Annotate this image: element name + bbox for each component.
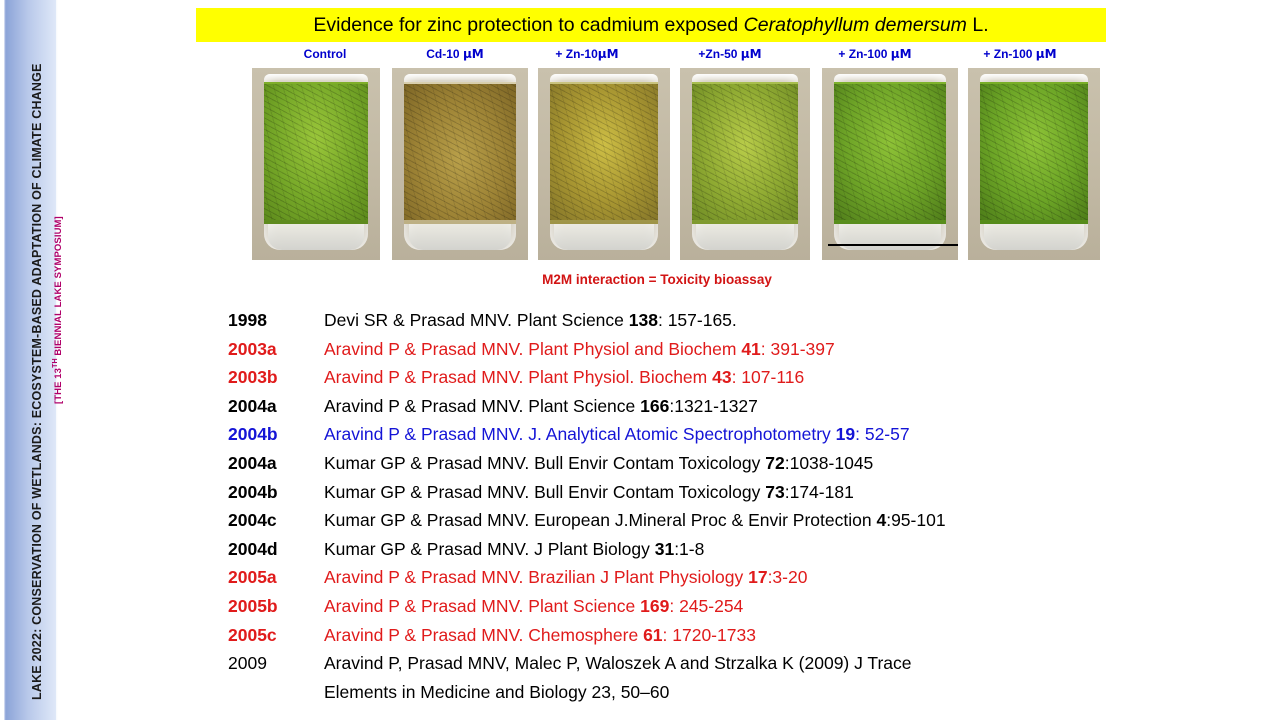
reference-row: 2009Aravind P, Prasad MNV, Malec P, Walo…	[228, 649, 1268, 678]
reference-citation: Kumar GP & Prasad MNV. European J.Minera…	[324, 510, 946, 530]
reference-text: :3-20	[768, 567, 808, 587]
reference-year: 2003b	[228, 363, 324, 392]
reference-citation: Aravind P & Prasad MNV. Chemosphere 61: …	[324, 625, 756, 645]
reference-volume: 138	[629, 310, 658, 330]
reference-row: 2003aAravind P & Prasad MNV. Plant Physi…	[228, 335, 1268, 364]
title-part-1: Evidence for zinc protection to cadmium …	[313, 14, 743, 36]
reference-text: : 107-116	[732, 367, 805, 387]
reference-year: 2004a	[228, 449, 324, 478]
reference-citation: Aravind P & Prasad MNV. Plant Physiol. B…	[324, 367, 804, 387]
reference-text: :1321-1327	[669, 396, 758, 416]
reference-citation: Kumar GP & Prasad MNV. Bull Envir Contam…	[324, 453, 873, 473]
reference-year: 2004a	[228, 392, 324, 421]
treatment-label-zn100-a-unit: μM	[891, 47, 912, 61]
reference-volume: 72	[765, 453, 784, 473]
reference-volume: 61	[643, 625, 662, 645]
reference-row: 2004aKumar GP & Prasad MNV. Bull Envir C…	[228, 449, 1268, 478]
beaker-glass	[692, 74, 799, 250]
beaker-rim	[550, 74, 658, 80]
reference-row: 2004dKumar GP & Prasad MNV. J Plant Biol…	[228, 535, 1268, 564]
treatment-label-zn50-unit: μM	[741, 47, 762, 61]
treatment-label-zn50: +Zn-50 μM	[665, 47, 795, 61]
reference-text: :174-181	[785, 482, 854, 502]
reference-text: Aravind P & Prasad MNV. J. Analytical At…	[324, 424, 836, 444]
treatment-label-zn10: + Zn-10μM	[522, 47, 652, 61]
plant-mass	[404, 84, 516, 220]
reference-volume: 19	[836, 424, 855, 444]
beaker-photo-zn50	[680, 68, 810, 260]
beaker-rim	[404, 74, 516, 80]
reference-year: 2009	[228, 649, 324, 678]
reference-text: Aravind P & Prasad MNV. Plant Science	[324, 396, 640, 416]
reference-year: 2004c	[228, 506, 324, 535]
title-part-2: L.	[967, 14, 989, 36]
beaker-photo-zn100-b	[968, 68, 1100, 260]
reference-text: : 1720-1733	[663, 625, 756, 645]
reference-text: Aravind P & Prasad MNV. Plant Physiol. B…	[324, 367, 712, 387]
beaker-base	[409, 224, 512, 250]
beaker-photo-zn10	[538, 68, 670, 260]
reference-year: 2005a	[228, 563, 324, 592]
plant-mass	[550, 84, 658, 220]
reference-volume: 4	[876, 510, 886, 530]
beaker-photo-cd10	[392, 68, 528, 260]
reference-text: Kumar GP & Prasad MNV. J Plant Biology	[324, 539, 655, 559]
reference-row: 2003bAravind P & Prasad MNV. Plant Physi…	[228, 363, 1268, 392]
plant-texture	[980, 84, 1088, 220]
reference-continuation: Elements in Medicine and Biology 23, 50–…	[228, 678, 1268, 707]
reference-text: Aravind P & Prasad MNV. Plant Physiol an…	[324, 339, 741, 359]
beaker-rim	[980, 74, 1088, 80]
beaker-base	[554, 224, 654, 250]
reference-volume: 31	[655, 539, 674, 559]
left-sidebar: LAKE 2022: CONSERVATION OF WETLANDS: ECO…	[0, 0, 63, 720]
reference-citation: Devi SR & Prasad MNV. Plant Science 138:…	[324, 310, 737, 330]
reference-text: Aravind P & Prasad MNV. Chemosphere	[324, 625, 643, 645]
reference-row: 1998Devi SR & Prasad MNV. Plant Science …	[228, 306, 1268, 335]
reference-year: 2005c	[228, 621, 324, 650]
reference-text: Kumar GP & Prasad MNV. European J.Minera…	[324, 510, 876, 530]
reference-citation: Kumar GP & Prasad MNV. Bull Envir Contam…	[324, 482, 854, 502]
plant-mass	[692, 84, 799, 220]
reference-text: : 157-165.	[658, 310, 737, 330]
treatment-label-control: Control	[260, 47, 390, 61]
reference-text: :1038-1045	[785, 453, 874, 473]
treatment-label-zn100-b: + Zn-100 μM	[950, 47, 1090, 61]
page-title: Evidence for zinc protection to cadmium …	[313, 14, 988, 37]
title-species-name: Ceratophyllum demersum	[744, 14, 967, 36]
treatment-label-zn10-text: + Zn-10	[555, 47, 597, 61]
reference-volume: 169	[640, 596, 669, 616]
reference-row: 2004bKumar GP & Prasad MNV. Bull Envir C…	[228, 478, 1268, 507]
reference-volume: 166	[640, 396, 669, 416]
beaker-photo-zn100-a	[822, 68, 958, 260]
treatment-label-zn50-text: +Zn-50	[698, 47, 740, 61]
reference-text: Aravind P, Prasad MNV, Malec P, Waloszek…	[324, 653, 912, 673]
reference-citation: Aravind P & Prasad MNV. Plant Science 16…	[324, 596, 743, 616]
treatment-label-zn100-b-text: + Zn-100	[983, 47, 1035, 61]
reference-citation: Aravind P & Prasad MNV. Plant Physiol an…	[324, 339, 835, 359]
plant-texture	[264, 84, 369, 220]
plant-mass	[834, 84, 946, 220]
plant-mass	[264, 84, 369, 220]
plant-texture	[692, 84, 799, 220]
beaker-glass	[980, 74, 1088, 250]
reference-citation: Aravind P & Prasad MNV. J. Analytical At…	[324, 424, 910, 444]
treatment-label-zn10-unit: μM	[598, 47, 619, 61]
beaker-rim	[834, 74, 946, 80]
reference-year: 2004b	[228, 478, 324, 507]
treatment-label-cd10-text: Cd-10	[426, 47, 463, 61]
beaker-base	[839, 224, 942, 250]
plant-texture	[834, 84, 946, 220]
reference-text: Aravind P & Prasad MNV. Brazilian J Plan…	[324, 567, 748, 587]
sidebar-subtitle-suffix: BIENNIAL LAKE SYMPOSIUM]	[53, 216, 64, 358]
reference-volume: 17	[748, 567, 767, 587]
beaker-glass	[834, 74, 946, 250]
beaker-glass	[550, 74, 658, 250]
treatment-label-cd10: Cd-10 μM	[390, 47, 520, 61]
plant-mass	[980, 84, 1088, 220]
sidebar-subtitle-ordinal: TH	[52, 358, 59, 368]
reference-text: :1-8	[674, 539, 704, 559]
reference-list: 1998Devi SR & Prasad MNV. Plant Science …	[228, 306, 1268, 706]
treatment-label-zn100-a: + Zn-100 μM	[805, 47, 945, 61]
reference-row: 2004bAravind P & Prasad MNV. J. Analytic…	[228, 420, 1268, 449]
reference-text: :95-101	[886, 510, 945, 530]
figure-caption: M2M interaction = Toxicity bioassay	[252, 272, 1062, 287]
reference-text: Kumar GP & Prasad MNV. Bull Envir Contam…	[324, 482, 765, 502]
treatment-label-zn100-b-unit: μM	[1036, 47, 1057, 61]
sidebar-symposium-subtitle: [THE 13TH BIENNIAL LAKE SYMPOSIUM]	[52, 216, 64, 404]
beaker-photo-control	[252, 68, 380, 260]
reference-year: 2004d	[228, 535, 324, 564]
reference-volume: 73	[765, 482, 784, 502]
reference-year: 2005b	[228, 592, 324, 621]
reference-row: 2004aAravind P & Prasad MNV. Plant Scien…	[228, 392, 1268, 421]
reference-text: Aravind P & Prasad MNV. Plant Science	[324, 596, 640, 616]
beaker-base	[696, 224, 794, 250]
beaker-glass	[404, 74, 516, 250]
reference-text: Kumar GP & Prasad MNV. Bull Envir Contam…	[324, 453, 765, 473]
treatment-label-cd10-unit: μM	[463, 47, 484, 61]
slide-title-banner: Evidence for zinc protection to cadmium …	[196, 8, 1106, 42]
plant-texture	[404, 84, 516, 220]
reference-year: 2004b	[228, 420, 324, 449]
beaker-base	[268, 224, 365, 250]
reference-year: 2003a	[228, 335, 324, 364]
plant-texture	[550, 84, 658, 220]
reference-volume: 43	[712, 367, 731, 387]
beaker-rim	[264, 74, 369, 80]
beaker-glass	[264, 74, 369, 250]
beaker-rim	[692, 74, 799, 80]
reference-text: Devi SR & Prasad MNV. Plant Science	[324, 310, 629, 330]
beaker-photo-strip	[252, 68, 1184, 260]
reference-text: : 52-57	[855, 424, 909, 444]
reference-volume: 41	[741, 339, 760, 359]
reference-citation: Kumar GP & Prasad MNV. J Plant Biology 3…	[324, 539, 704, 559]
treatment-label-control-text: Control	[304, 47, 347, 61]
treatment-labels-row: Control Cd-10 μM + Zn-10μM +Zn-50 μM + Z…	[250, 47, 1180, 63]
reference-citation: Aravind P & Prasad MNV. Plant Science 16…	[324, 396, 758, 416]
treatment-label-zn100-a-text: + Zn-100	[838, 47, 890, 61]
reference-year: 1998	[228, 306, 324, 335]
reference-row: 2005aAravind P & Prasad MNV. Brazilian J…	[228, 563, 1268, 592]
reference-row: 2005cAravind P & Prasad MNV. Chemosphere…	[228, 621, 1268, 650]
reference-text: : 245-254	[669, 596, 743, 616]
reference-text: : 391-397	[761, 339, 835, 359]
beaker-base	[984, 224, 1084, 250]
reference-row: 2004cKumar GP & Prasad MNV. European J.M…	[228, 506, 1268, 535]
scale-bar	[828, 244, 958, 246]
sidebar-conference-title: LAKE 2022: CONSERVATION OF WETLANDS: ECO…	[30, 63, 44, 700]
sidebar-subtitle-prefix: [THE 13	[53, 368, 64, 404]
reference-row: 2005bAravind P & Prasad MNV. Plant Scien…	[228, 592, 1268, 621]
reference-citation: Aravind P & Prasad MNV. Brazilian J Plan…	[324, 567, 807, 587]
reference-citation: Aravind P, Prasad MNV, Malec P, Waloszek…	[324, 653, 912, 673]
